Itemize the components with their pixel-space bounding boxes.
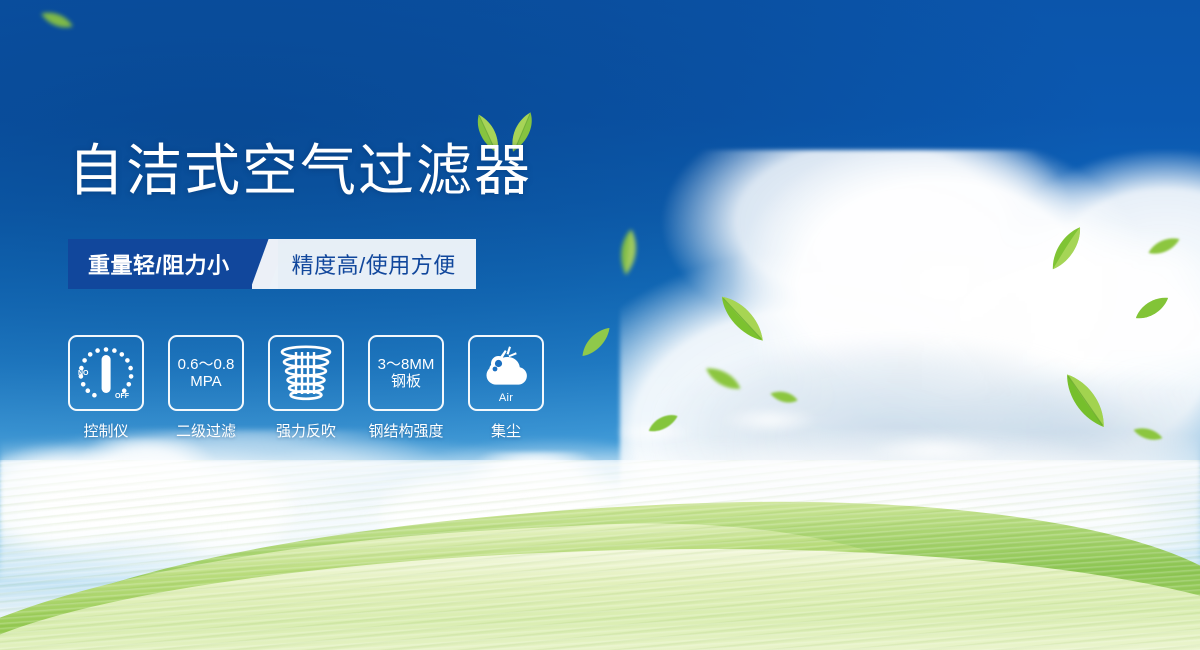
feature-icon-box: 0.6～0.8 MPA [168,335,244,411]
feature-label: 控制仪 [83,420,128,441]
product-banner: 自洁式空气过滤器 重量轻/阻力小 精度高/使用方便 [0,0,1200,650]
feature-icon-box [268,335,344,411]
grass-horizon-haze [0,460,1200,506]
cloud-air-icon [475,345,537,391]
feature-item-steel-structure[interactable]: 3～8MM 钢板 钢结构强度 [368,335,444,441]
filter-cartridge-icon [278,344,334,402]
subtitle-bar: 重量轻/阻力小 精度高/使用方便 [68,239,476,289]
feature-label: 强力反吹 [276,420,336,441]
feature-icon-box: NO OFF [68,335,144,411]
svg-text:NO: NO [78,370,89,377]
feature-item-dust-collection[interactable]: Air 集尘 [468,335,544,441]
subtitle-right-text: 精度高/使用方便 [278,239,476,289]
page-title: 自洁式空气过滤器 [68,143,532,199]
feature-item-two-stage-filter[interactable]: 0.6～0.8 MPA 二级过滤 [168,335,244,441]
steel-material: 钢板 [378,373,435,390]
feature-item-strong-backblow[interactable]: 强力反吹 [268,335,344,441]
feature-icon-box: 3～8MM 钢板 [368,335,444,411]
pressure-range: 0.6～0.8 [178,356,235,373]
pressure-text-icon: 0.6～0.8 MPA [178,356,235,391]
steel-plate-text-icon: 3～8MM 钢板 [378,356,435,391]
subtitle-left-text: 重量轻/阻力小 [68,239,252,289]
air-label: Air [470,392,542,404]
feature-icon-row: NO OFF 控制仪 0.6～0.8 MPA 二级过滤 [68,335,544,441]
subtitle-diagonal-divider [252,239,278,289]
feature-label: 二级过滤 [176,420,236,441]
feature-label: 集尘 [491,420,521,441]
svg-text:OFF: OFF [115,393,130,400]
cloud-wisp-1 [700,402,840,438]
grass-field [0,460,1200,650]
gauge-dial-icon: NO OFF [75,343,137,403]
feature-label: 钢结构强度 [368,420,443,441]
steel-thickness: 3～8MM [378,356,435,373]
feature-icon-box: Air [468,335,544,411]
pressure-unit: MPA [178,373,235,390]
feature-item-controller[interactable]: NO OFF 控制仪 [68,335,144,441]
